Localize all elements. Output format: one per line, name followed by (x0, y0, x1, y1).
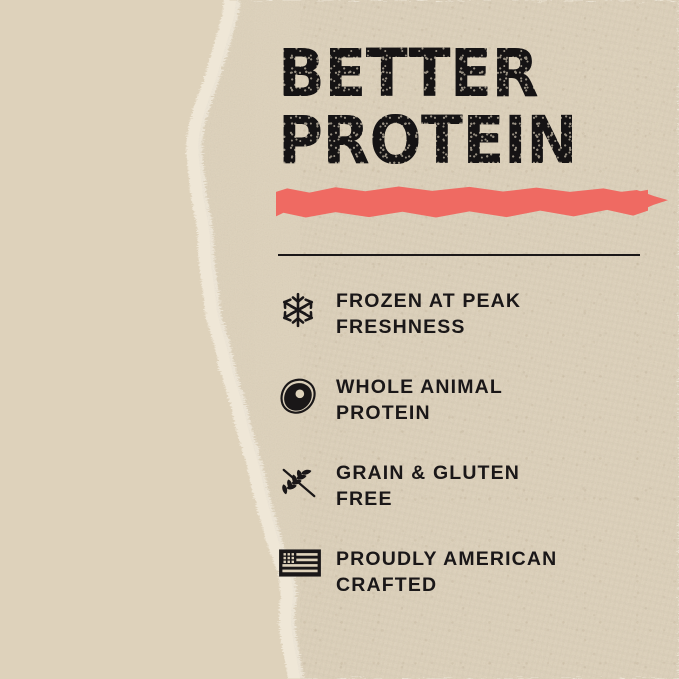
feature-item: GRAIN & GLUTEN FREE (278, 460, 679, 546)
product-feature-ad: BETTER PROTEIN FROZEN AT PEAK FRESHNESS … (0, 0, 679, 679)
feature-label: PROUDLY AMERICAN CRAFTED (336, 546, 557, 599)
feature-item: WHOLE ANIMAL PROTEIN (278, 374, 679, 460)
section-divider (278, 254, 640, 256)
headline-line-2: PROTEIN (278, 111, 641, 172)
red-brush-stroke (276, 184, 648, 220)
content-column: BETTER PROTEIN FROZEN AT PEAK FRESHNESS … (278, 0, 679, 679)
steak-icon (278, 374, 336, 416)
feature-label: WHOLE ANIMAL PROTEIN (336, 374, 503, 427)
feature-label: GRAIN & GLUTEN FREE (336, 460, 520, 513)
headline: BETTER PROTEIN (278, 44, 668, 171)
snowflake-icon (278, 288, 336, 330)
feature-label: FROZEN AT PEAK FRESHNESS (336, 288, 521, 341)
headline-line-1: BETTER (278, 44, 641, 105)
feature-item: PROUDLY AMERICAN CRAFTED (278, 546, 679, 632)
feature-list: FROZEN AT PEAK FRESHNESS WHOLE ANIMAL PR… (278, 288, 679, 632)
feature-item: FROZEN AT PEAK FRESHNESS (278, 288, 679, 374)
wheat-free-icon (278, 460, 336, 504)
us-flag-icon (278, 546, 336, 578)
